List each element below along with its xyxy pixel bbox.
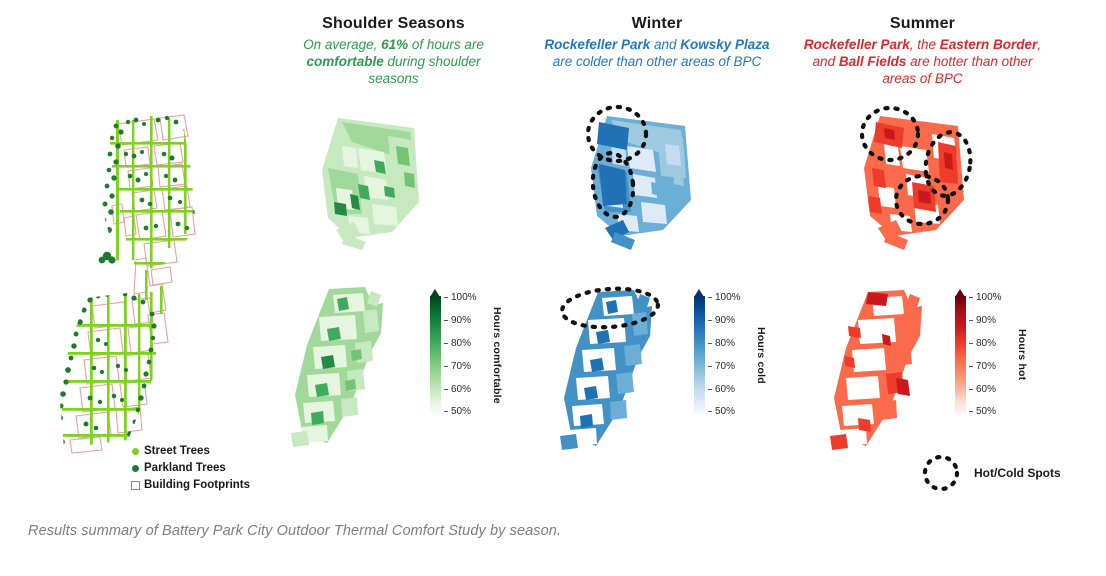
tick-label: 80% [715,338,735,349]
sub-emph: Rockefeller Park [544,37,650,52]
colorbar-gradient-cold [694,296,705,414]
dashed-circle-icon [920,452,962,494]
legend-item-street-trees: Street Trees [126,444,250,458]
choropleth-green-south [291,287,383,447]
street-tree-dot-icon [126,448,144,455]
sub-emph: 61% [381,37,408,52]
tick-label: 60% [976,384,996,395]
tick-label: 80% [451,338,471,349]
legend-item-parkland-trees: Parkland Trees [126,461,250,475]
colorbar-arrow-icon [430,289,440,297]
choropleth-blue-south [560,290,652,450]
colorbar-axis-label-comfortable: Hours comfortable [491,296,503,414]
tick-label: 70% [976,361,996,372]
tick-label: 70% [451,361,471,372]
column-title-summer: Summer [800,14,1045,34]
parkland-tree-dot-icon [126,465,144,472]
legend-label: Parkland Trees [144,462,226,474]
colorbar-gradient-hot [955,296,966,414]
tick-label: 100% [451,292,477,303]
hot-cold-spot-legend: Hot/Cold Spots [920,452,1061,494]
map-tree-canopy [50,110,235,455]
map-winter-south [548,278,693,453]
building-footprints-north [112,115,195,285]
map-shoulder-south [285,285,420,450]
column-title-winter: Winter [542,14,772,34]
sub-text: , the [910,37,940,52]
tick-label: 100% [976,292,1002,303]
column-title-shoulder: Shoulder Seasons [281,14,506,34]
column-header-summer: Summer Rockefeller Park, the Eastern Bor… [800,14,1045,87]
colorbar-ticks-hot: 100% 90% 80% 70% 60% 50% [969,296,1015,414]
sub-text: during shoulder seasons [368,54,480,86]
tick-label: 60% [715,384,735,395]
column-header-winter: Winter Rockefeller Park and Kowsky Plaza… [542,14,772,70]
legend-label: Building Footprints [144,479,250,491]
sub-emph: Eastern Border [940,37,1038,52]
sub-emph: Ball Fields [839,54,907,69]
choropleth-green-north [322,118,419,250]
tick-label: 50% [451,406,471,417]
colorbar-ticks-cold: 100% 90% 80% 70% 60% 50% [708,296,754,414]
map-shoulder-north [292,110,442,250]
sub-text: and [650,37,680,52]
tick-label: 60% [451,384,471,395]
tree-legend: Street Trees Parkland Trees Building Foo… [126,444,250,495]
legend-label: Street Trees [144,445,210,457]
sub-emph: Kowsky Plaza [680,37,769,52]
sub-emph: Rockefeller Park [804,37,910,52]
sub-text: are colder than other areas of BPC [553,54,762,69]
tick-label: 50% [976,406,996,417]
sub-text: On average, [303,37,381,52]
tick-label: 70% [715,361,735,372]
colorbar-hours-hot: 100% 90% 80% 70% 60% 50% Hours hot [955,296,1028,414]
legend-item-building-footprints: Building Footprints [126,478,250,492]
building-footprint-square-icon [126,481,144,490]
sub-emph: comfortable [306,54,383,69]
choropleth-blue-north [591,116,691,250]
colorbar-hours-cold: 100% 90% 80% 70% 60% 50% Hours cold [694,296,767,414]
colorbar-axis-label-hot: Hours hot [1016,296,1028,414]
column-header-shoulder: Shoulder Seasons On average, 61% of hour… [281,14,506,87]
tick-label: 90% [451,315,471,326]
column-subtitle-shoulder: On average, 61% of hours are comfortable… [281,36,506,87]
choropleth-red-south [830,290,922,450]
colorbar-hours-comfortable: 100% 90% 80% 70% 60% 50% Hours comfortab… [430,296,503,414]
colorbar-arrow-icon [955,289,965,297]
map-winter-north [565,108,720,253]
tick-label: 90% [976,315,996,326]
sub-text: of hours are [408,37,484,52]
street-trees-layer [60,114,196,446]
colorbar-gradient-comfortable [430,296,441,414]
tick-label: 50% [715,406,735,417]
colorbar-axis-label-cold: Hours cold [755,296,767,414]
colorbar-arrow-icon [694,289,704,297]
tick-label: 100% [715,292,741,303]
figure-caption: Results summary of Battery Park City Out… [28,523,1068,539]
choropleth-red-north [864,116,964,250]
column-subtitle-winter: Rockefeller Park and Kowsky Plaza are co… [542,36,772,70]
map-summer-north [838,108,998,253]
map-summer-south [818,278,963,453]
hot-cold-spot-legend-label: Hot/Cold Spots [974,466,1061,480]
tick-label: 80% [976,338,996,349]
column-subtitle-summer: Rockefeller Park, the Eastern Border, an… [800,36,1045,87]
figure-canvas: Shoulder Seasons On average, 61% of hour… [0,0,1106,576]
tick-label: 90% [715,315,735,326]
colorbar-ticks-comfortable: 100% 90% 80% 70% 60% 50% [444,296,490,414]
